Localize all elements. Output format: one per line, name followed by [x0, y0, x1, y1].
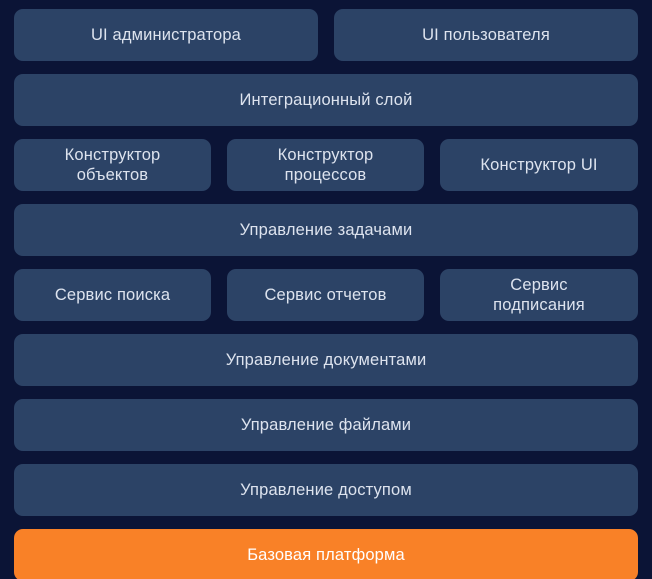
layer-box-task-management[interactable]: Управление задачами [14, 204, 638, 256]
layer-box-reports-service[interactable]: Сервис отчетов [227, 269, 424, 321]
layer-box-ui-constructor[interactable]: Конструктор UI [440, 139, 638, 191]
layer-box-document-management[interactable]: Управление документами [14, 334, 638, 386]
layer-row-constructors: Конструктор объектов Конструктор процесс… [14, 139, 638, 191]
layer-row-base-platform: Базовая платформа [14, 529, 638, 579]
layer-box-base-platform[interactable]: Базовая платформа [14, 529, 638, 579]
layer-row-task-management: Управление задачами [14, 204, 638, 256]
layer-row-access-management: Управление доступом [14, 464, 638, 516]
architecture-layer-diagram: UI администратора UI пользователя Интегр… [0, 0, 652, 579]
layer-row-ui: UI администратора UI пользователя [14, 9, 638, 61]
layer-row-services: Сервис поиска Сервис отчетов Сервис подп… [14, 269, 638, 321]
layer-box-search-service[interactable]: Сервис поиска [14, 269, 211, 321]
layer-row-document-management: Управление документами [14, 334, 638, 386]
layer-box-access-management[interactable]: Управление доступом [14, 464, 638, 516]
layer-row-integration: Интеграционный слой [14, 74, 638, 126]
layer-box-object-constructor[interactable]: Конструктор объектов [14, 139, 211, 191]
layer-box-user-ui[interactable]: UI пользователя [334, 9, 638, 61]
layer-box-process-constructor[interactable]: Конструктор процессов [227, 139, 424, 191]
layer-box-admin-ui[interactable]: UI администратора [14, 9, 318, 61]
layer-box-signing-service[interactable]: Сервис подписания [440, 269, 638, 321]
layer-row-file-management: Управление файлами [14, 399, 638, 451]
layer-box-integration-layer[interactable]: Интеграционный слой [14, 74, 638, 126]
layer-box-file-management[interactable]: Управление файлами [14, 399, 638, 451]
